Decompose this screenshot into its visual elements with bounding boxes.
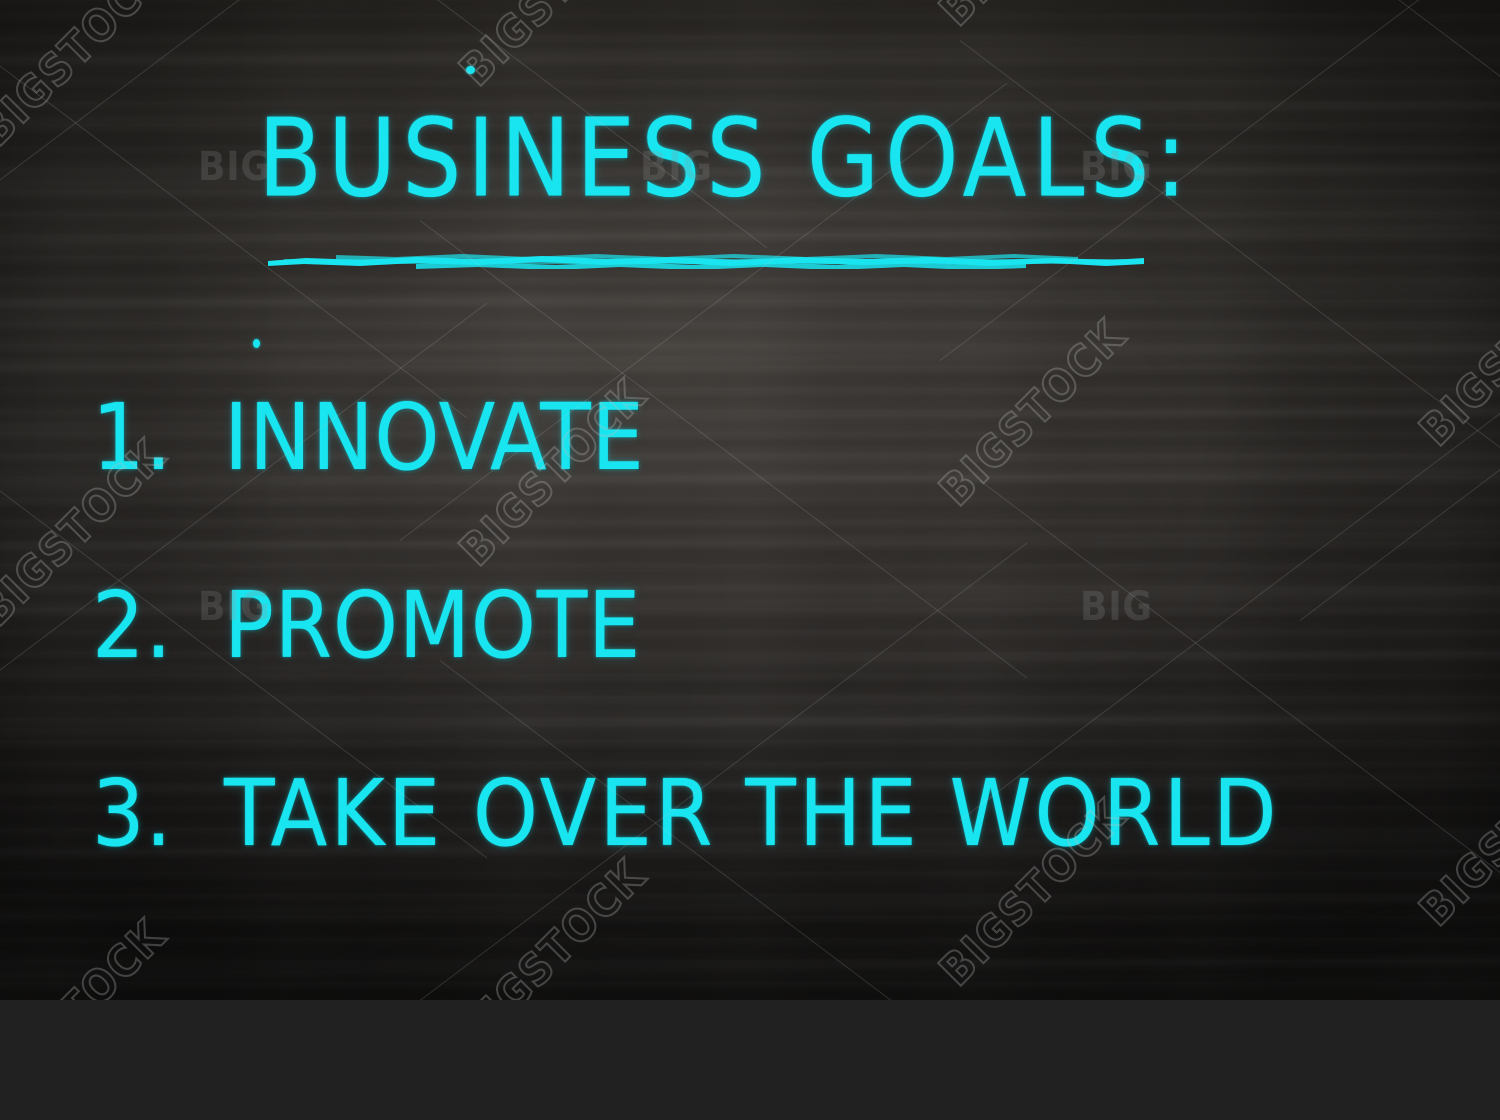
goal-item: 1. INNOVATE: [92, 392, 644, 502]
chalk-speck-icon: [253, 339, 260, 348]
bigstock-stock-photo-page: BUSINESS GOALS: 1. INNOVATE 2. PROMOTE 3…: [0, 0, 1500, 1120]
goal-number: 2.: [92, 580, 224, 672]
goal-label: INNOVATE: [224, 392, 644, 484]
goal-number: 3.: [92, 768, 224, 860]
chalkboard-image: BUSINESS GOALS: 1. INNOVATE 2. PROMOTE 3…: [0, 0, 1500, 1000]
chalk-speck-icon: [466, 66, 475, 74]
goal-label: TAKE OVER THE WORLD: [224, 768, 1280, 860]
goal-number: 1.: [92, 392, 224, 484]
goal-item: 2. PROMOTE: [92, 580, 641, 690]
page-title: BUSINESS GOALS:: [258, 104, 1192, 212]
goal-item: 3. TAKE OVER THE WORLD: [92, 768, 1280, 878]
goal-label: PROMOTE: [224, 580, 641, 672]
footer-bar: BIGSTOCK Image ID: 59220368 bigstock.com: [0, 1000, 1500, 1120]
